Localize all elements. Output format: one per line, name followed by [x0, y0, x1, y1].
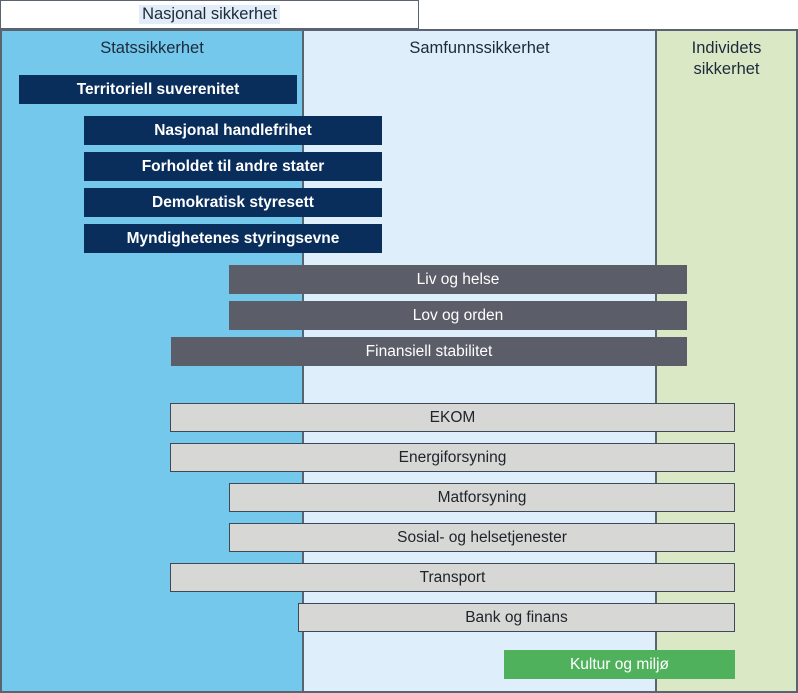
bar-label: EKOM: [430, 409, 476, 427]
bar-label: Finansiell stabilitet: [366, 343, 493, 361]
diagram-panel: Statssikkerhet Samfunnssikkerhet Individ…: [0, 29, 798, 693]
bar-nasjonal-handlefrihet[interactable]: Nasjonal handlefrihet: [84, 116, 382, 145]
bar-matforsyning[interactable]: Matforsyning: [229, 483, 735, 512]
national-security-diagram: Nasjonal sikkerhet Statssikkerhet Samfun…: [0, 0, 798, 693]
bar-label: Nasjonal handlefrihet: [154, 122, 312, 140]
column-header-individets-sikkerhet: Individets sikkerhet: [657, 38, 796, 79]
bar-lov-og-orden[interactable]: Lov og orden: [229, 301, 687, 330]
bar-kultur-og-miljo[interactable]: Kultur og miljø: [504, 650, 735, 679]
column-header-statssikkerhet: Statssikkerhet: [2, 38, 302, 59]
bar-myndighetenes-styringsevne[interactable]: Myndighetenes styringsevne: [84, 224, 382, 253]
column-header-samfunnssikkerhet: Samfunnssikkerhet: [304, 38, 655, 59]
bar-label: Bank og finans: [465, 609, 568, 627]
bar-label: Myndighetenes styringsevne: [127, 230, 340, 248]
bar-label: Territoriell suverenitet: [77, 81, 240, 99]
bar-liv-og-helse[interactable]: Liv og helse: [229, 265, 687, 294]
bar-label: Energiforsyning: [399, 449, 507, 467]
column-header-line-2: sikkerhet: [657, 59, 796, 80]
bar-sosial-og-helsetjenester[interactable]: Sosial- og helsetjenester: [229, 523, 735, 552]
bar-label: Sosial- og helsetjenester: [397, 529, 567, 547]
diagram-title: Nasjonal sikkerhet: [139, 5, 280, 23]
bar-label: Kultur og miljø: [570, 656, 669, 674]
bar-finansiell-stabilitet[interactable]: Finansiell stabilitet: [171, 337, 687, 366]
bar-label: Forholdet til andre stater: [142, 158, 325, 176]
bar-label: Demokratisk styresett: [152, 194, 314, 212]
bar-forholdet-til-andre-stater[interactable]: Forholdet til andre stater: [84, 152, 382, 181]
bar-bank-og-finans[interactable]: Bank og finans: [298, 603, 735, 632]
bar-ekom[interactable]: EKOM: [170, 403, 735, 432]
bar-transport[interactable]: Transport: [170, 563, 735, 592]
bar-label: Matforsyning: [438, 489, 527, 507]
column-header-line-1: Individets: [657, 38, 796, 59]
bar-energiforsyning[interactable]: Energiforsyning: [170, 443, 735, 472]
bar-label: Liv og helse: [417, 271, 500, 289]
bar-label: Lov og orden: [413, 307, 504, 325]
bar-demokratisk-styresett[interactable]: Demokratisk styresett: [84, 188, 382, 217]
bar-territoriell-suverenitet[interactable]: Territoriell suverenitet: [19, 75, 297, 104]
diagram-title-box: Nasjonal sikkerhet: [0, 0, 419, 29]
bar-label: Transport: [420, 569, 486, 587]
